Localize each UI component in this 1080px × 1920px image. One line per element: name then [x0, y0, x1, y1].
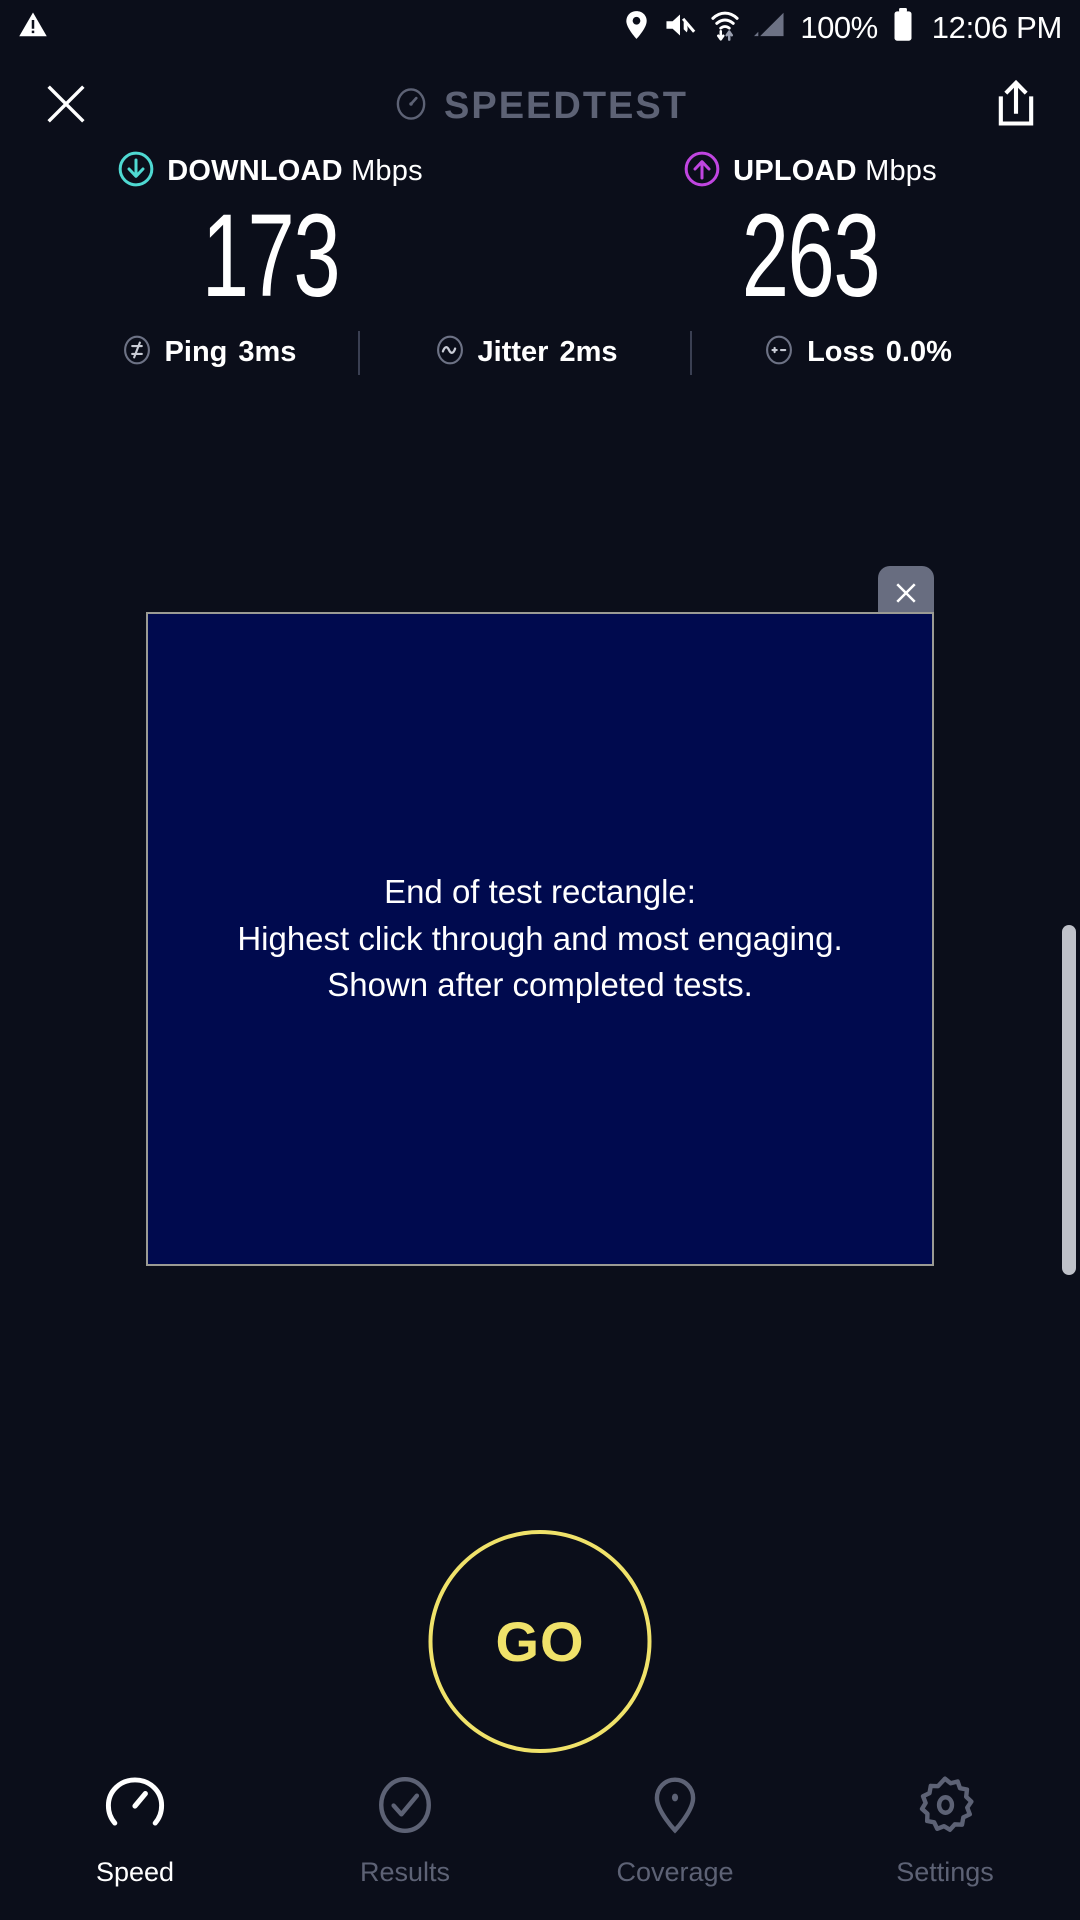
- app-header: SPEEDTEST: [0, 60, 1080, 152]
- cell-signal-icon: [754, 10, 786, 45]
- status-bar-right: 100% 12:06 PM: [623, 8, 1062, 47]
- ad-text-line-1: End of test rectangle:: [237, 869, 842, 916]
- jitter-value: 2ms: [559, 336, 617, 369]
- bottom-nav: Speed Results Coverage Settings: [0, 1760, 1080, 1920]
- ad-text-line-3: Shown after completed tests.: [237, 962, 842, 1009]
- battery-percent-label: 100%: [800, 12, 877, 43]
- upload-label-strong: UPLOAD: [733, 155, 857, 187]
- nav-item-coverage[interactable]: Coverage: [540, 1774, 810, 1888]
- nav-item-settings[interactable]: Settings: [810, 1774, 1080, 1888]
- location-pin-icon: [644, 1774, 706, 1841]
- download-value: 173: [201, 195, 338, 319]
- upload-label: UPLOAD Mbps: [733, 155, 937, 188]
- download-label-strong: DOWNLOAD: [167, 155, 343, 187]
- nav-label-results: Results: [360, 1857, 450, 1888]
- upload-arrow-icon: [683, 150, 721, 193]
- metric-loss: Loss 0.0%: [692, 333, 1022, 372]
- upload-label-unit: Mbps: [865, 155, 937, 187]
- location-pin-icon: [623, 10, 650, 45]
- close-icon: [891, 578, 921, 613]
- download-label: DOWNLOAD Mbps: [167, 155, 423, 188]
- results-panel: DOWNLOAD Mbps 173 UPLOAD Mbps 263: [0, 150, 1080, 375]
- ad-text-line-2: Highest click through and most engaging.: [237, 916, 842, 963]
- gear-icon: [914, 1774, 976, 1841]
- clock-label: 12:06 PM: [932, 12, 1062, 43]
- ping-value: 3ms: [238, 336, 296, 369]
- nav-item-speed[interactable]: Speed: [0, 1774, 270, 1888]
- ad-text: End of test rectangle: Highest click thr…: [217, 869, 862, 1010]
- upload-result: UPLOAD Mbps 263: [540, 150, 1080, 319]
- loss-icon: [762, 333, 796, 372]
- nav-label-settings: Settings: [896, 1857, 994, 1888]
- warning-triangle-icon: [18, 10, 48, 45]
- speedometer-icon: [392, 85, 430, 128]
- status-bar: 100% 12:06 PM: [0, 0, 1080, 54]
- brand-title: SPEEDTEST: [444, 85, 688, 128]
- download-arrow-icon: [117, 150, 155, 193]
- ping-icon: [120, 333, 154, 372]
- nav-label-speed: Speed: [96, 1857, 174, 1888]
- share-icon[interactable]: [992, 78, 1040, 135]
- loss-label: Loss: [807, 336, 875, 369]
- loss-value: 0.0%: [886, 336, 952, 369]
- go-button[interactable]: GO: [429, 1530, 652, 1753]
- upload-value: 263: [741, 195, 878, 319]
- metrics-row: Ping 3ms Jitter 2ms Loss 0.0: [0, 331, 1080, 375]
- wifi-transfer-icon: [710, 9, 740, 46]
- nav-label-coverage: Coverage: [616, 1857, 733, 1888]
- download-result: DOWNLOAD Mbps 173: [0, 150, 540, 319]
- check-circle-icon: [374, 1774, 436, 1841]
- download-label-unit: Mbps: [351, 155, 423, 187]
- go-button-label: GO: [495, 1609, 584, 1674]
- scrollbar-thumb[interactable]: [1062, 925, 1076, 1275]
- speedometer-icon: [104, 1774, 166, 1841]
- nav-item-results[interactable]: Results: [270, 1774, 540, 1888]
- speed-row: DOWNLOAD Mbps 173 UPLOAD Mbps 263: [0, 150, 1080, 319]
- mute-icon: [664, 10, 696, 45]
- jitter-label: Jitter: [478, 336, 549, 369]
- status-bar-left: [18, 10, 48, 45]
- close-icon[interactable]: [40, 78, 92, 135]
- ad-rectangle[interactable]: End of test rectangle: Highest click thr…: [146, 612, 934, 1266]
- metric-ping: Ping 3ms: [58, 333, 358, 372]
- jitter-icon: [433, 333, 467, 372]
- ad-container: End of test rectangle: Highest click thr…: [146, 612, 934, 1266]
- battery-full-icon: [892, 8, 914, 47]
- brand: SPEEDTEST: [392, 85, 688, 128]
- download-label-row: DOWNLOAD Mbps: [117, 150, 423, 193]
- metric-jitter: Jitter 2ms: [360, 333, 690, 372]
- ping-label: Ping: [165, 336, 228, 369]
- upload-label-row: UPLOAD Mbps: [683, 150, 937, 193]
